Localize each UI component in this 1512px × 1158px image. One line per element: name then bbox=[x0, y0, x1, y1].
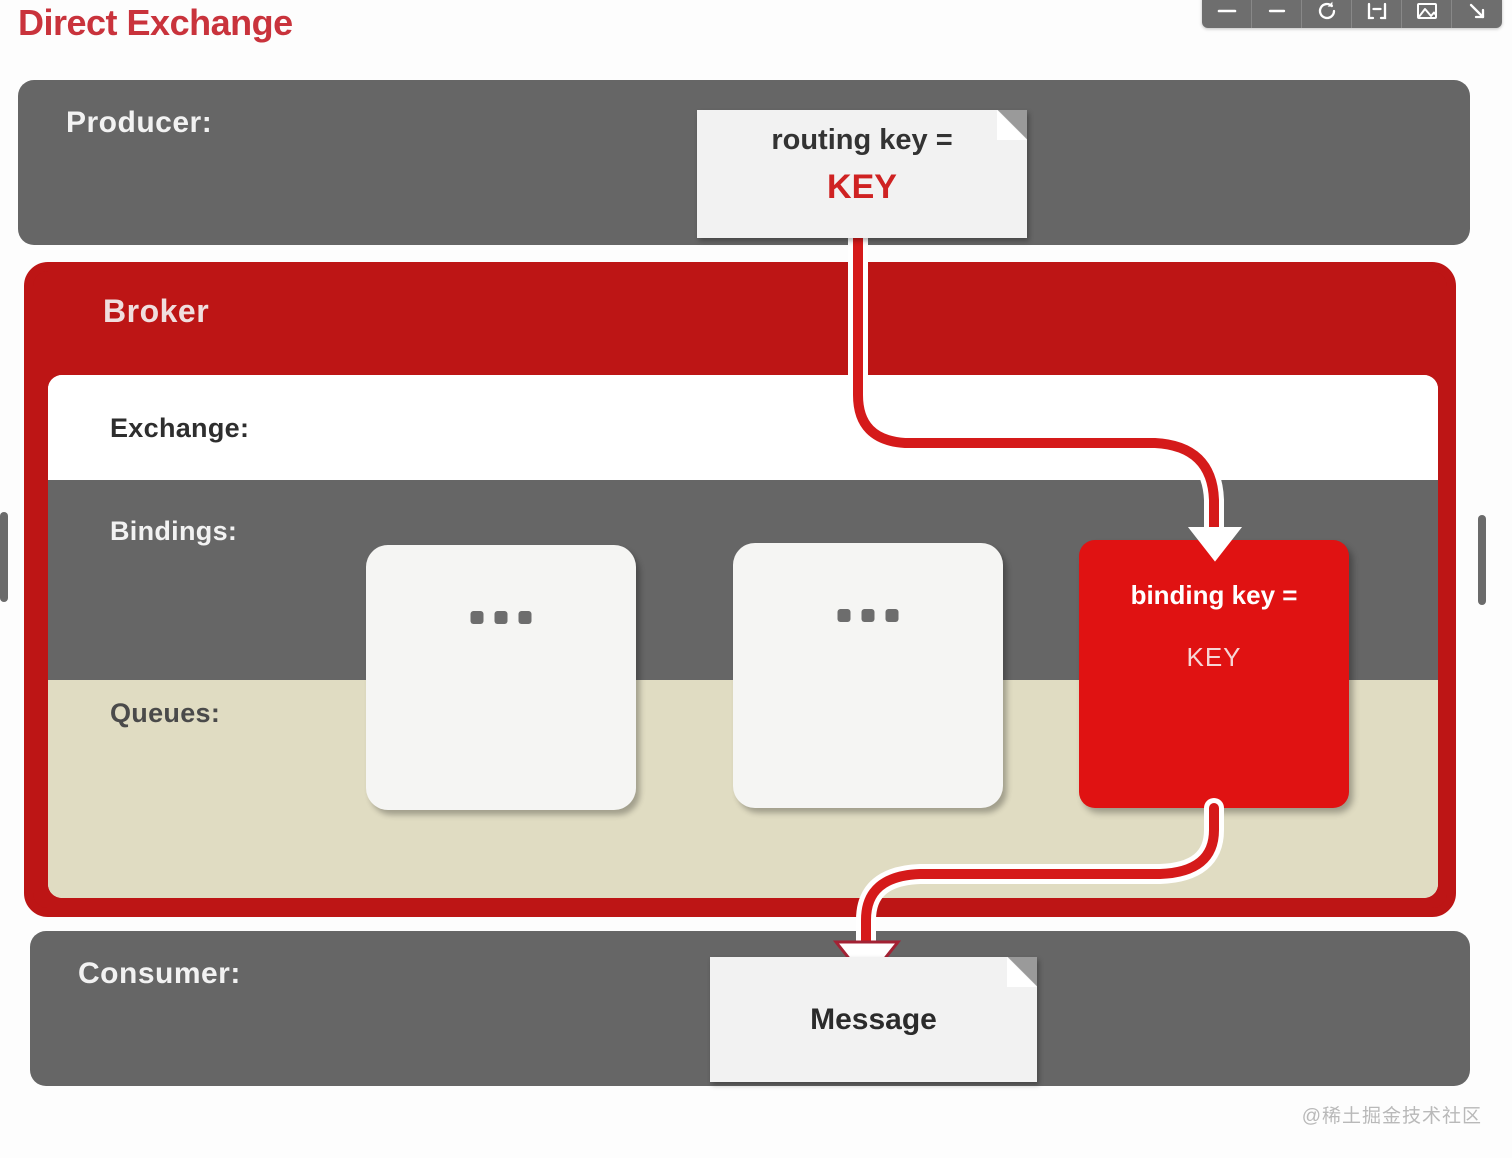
broker-label: Broker bbox=[103, 293, 209, 330]
binding-key-value: KEY bbox=[1079, 642, 1349, 673]
bindings-label: Bindings: bbox=[110, 516, 237, 547]
routing-key-label: routing key = bbox=[697, 124, 1027, 157]
page-fold-icon bbox=[1007, 957, 1037, 987]
diagram-canvas: Direct Exchange Producer: Broker Exchang… bbox=[0, 0, 1512, 1158]
watermark: @稀土掘金技术社区 bbox=[1302, 1101, 1482, 1128]
routing-key-note[interactable]: routing key = KEY bbox=[697, 110, 1027, 238]
expand-arrow-icon[interactable] bbox=[1452, 0, 1502, 28]
message-label: Message bbox=[710, 1003, 1037, 1037]
queue-card[interactable] bbox=[733, 543, 1003, 808]
queue-card[interactable] bbox=[366, 545, 636, 810]
resize-handle-right[interactable] bbox=[1478, 515, 1486, 605]
producer-label: Producer: bbox=[66, 106, 212, 140]
consumer-label: Consumer: bbox=[78, 957, 241, 991]
rotate-right-icon[interactable] bbox=[1302, 0, 1352, 28]
ellipsis-icon bbox=[838, 609, 899, 622]
zoom-out-icon[interactable] bbox=[1202, 0, 1252, 28]
page-title: Direct Exchange bbox=[18, 2, 293, 44]
zoom-in-icon[interactable] bbox=[1252, 0, 1302, 28]
binding-key-label: binding key = bbox=[1079, 580, 1349, 611]
ellipsis-icon bbox=[471, 611, 532, 624]
routing-key-value: KEY bbox=[697, 168, 1027, 207]
exchange-label: Exchange: bbox=[110, 413, 249, 444]
exchange-band: Exchange: bbox=[48, 375, 1438, 480]
rotate-left-icon[interactable] bbox=[1352, 0, 1402, 28]
message-note[interactable]: Message bbox=[710, 957, 1037, 1082]
image-icon[interactable] bbox=[1402, 0, 1452, 28]
queues-label: Queues: bbox=[110, 698, 220, 729]
image-viewer-toolbar bbox=[1202, 0, 1502, 28]
resize-handle-left[interactable] bbox=[0, 512, 8, 602]
binding-key-card[interactable]: binding key = KEY bbox=[1079, 540, 1349, 808]
